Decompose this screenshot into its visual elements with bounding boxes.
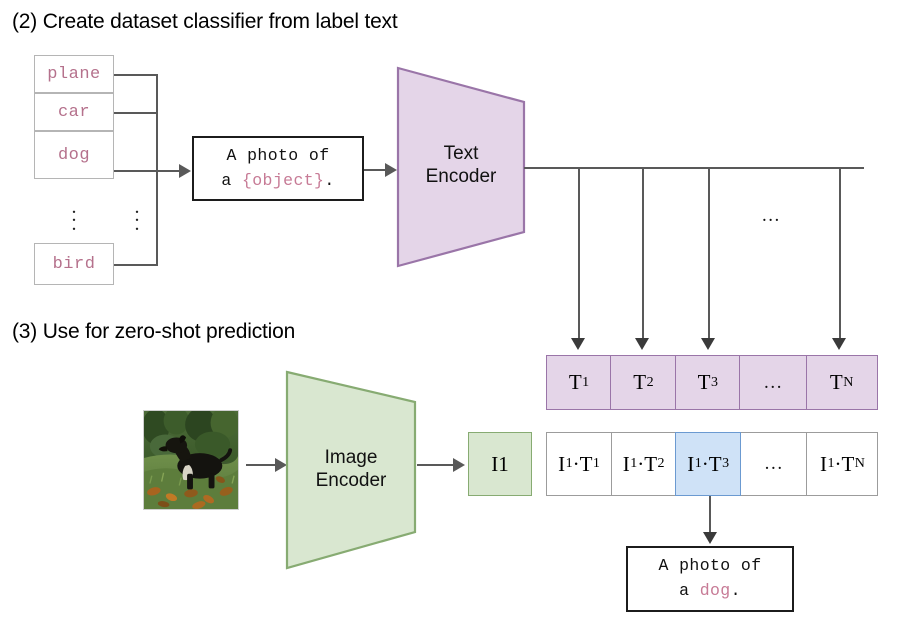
image-encoder-label: Image Encoder — [285, 446, 417, 492]
output-line-2: a dog. — [679, 579, 741, 604]
similarity-row: I1·T1 I1·T2 I1·T3 … I1·TN — [546, 432, 878, 496]
label-box-dog[interactable]: dog — [34, 131, 114, 179]
label-text-bird: bird — [53, 255, 96, 274]
text-embedding-cell[interactable]: T3 — [675, 355, 741, 410]
bus-drop-3 — [708, 167, 710, 343]
sim-i-sub: 1 — [695, 456, 702, 472]
sim-i-sub: 1 — [827, 456, 834, 472]
sim-t: T — [841, 452, 854, 477]
sim-dot: · — [834, 452, 841, 477]
arrow-down-icon — [703, 532, 717, 544]
output-line-1: A photo of — [658, 554, 761, 579]
cell-base: T — [569, 370, 582, 395]
sim-dot: · — [573, 452, 580, 477]
connector-car — [114, 112, 158, 114]
output-suffix: . — [731, 581, 741, 600]
prompt-object-token: {object} — [242, 171, 324, 190]
sim-t: T — [709, 452, 722, 477]
connector-ellipsis-icon: ... — [127, 203, 147, 228]
cell-base: T — [698, 370, 711, 395]
sim-ellipsis: … — [764, 453, 784, 475]
label-box-car[interactable]: car — [34, 93, 114, 131]
prompt-suffix: . — [324, 171, 334, 190]
prediction-output-box[interactable]: A photo of a dog. — [626, 546, 794, 612]
arrow-right-icon — [179, 164, 191, 178]
label-stack-ellipsis-icon: ... — [64, 203, 84, 228]
output-predicted-class: dog — [700, 581, 731, 600]
sim-dot: · — [637, 452, 644, 477]
sim-dot: · — [702, 452, 709, 477]
cell-base: T — [830, 370, 843, 395]
arrow-down-icon — [701, 338, 715, 350]
prompt-template-box[interactable]: A photo of a {object}. — [192, 136, 364, 201]
output-prefix: a — [679, 581, 700, 600]
image-embedding-base: I — [491, 452, 498, 477]
sim-t: T — [644, 452, 657, 477]
arrow-down-icon — [635, 338, 649, 350]
prompt-line-1: A photo of — [226, 144, 329, 169]
prompt-prefix: a — [221, 171, 242, 190]
similarity-cell-n[interactable]: I1·TN — [806, 432, 878, 496]
sim-i: I — [623, 452, 630, 477]
similarity-cell-3-selected[interactable]: I1·T3 — [675, 432, 741, 496]
connector-dog — [114, 170, 158, 172]
sim-i: I — [687, 452, 694, 477]
sim-t-sub: 3 — [722, 456, 729, 472]
similarity-cell-1[interactable]: I1·T1 — [546, 432, 612, 496]
text-embedding-cell-ellipsis: … — [739, 355, 807, 410]
bus-drop-1 — [578, 167, 580, 343]
sim-t-sub: 2 — [658, 456, 665, 472]
label-text-plane: plane — [47, 65, 101, 84]
label-box-bird[interactable]: bird — [34, 243, 114, 285]
sim-i: I — [820, 452, 827, 477]
image-encoder[interactable]: Image Encoder — [285, 370, 417, 570]
sim-t: T — [580, 452, 593, 477]
bus-drop-2 — [642, 167, 644, 343]
sim-t-sub: N — [855, 456, 865, 472]
sim-i: I — [558, 452, 565, 477]
connector-bird — [114, 264, 158, 266]
bus-drop-n — [839, 167, 841, 343]
similarity-cell-ellipsis: … — [740, 432, 808, 496]
label-box-plane[interactable]: plane — [34, 55, 114, 93]
dog-photo-illustration — [144, 411, 238, 509]
bus-overflow-dots: ... — [762, 205, 781, 227]
sim-i-sub: 1 — [630, 456, 637, 472]
text-embedding-cell[interactable]: T2 — [610, 355, 676, 410]
arrow-down-icon — [571, 338, 585, 350]
input-image-thumbnail[interactable] — [143, 410, 239, 510]
similarity-cell-2[interactable]: I1·T2 — [611, 432, 677, 496]
arrow-right-icon — [453, 458, 465, 472]
image-embedding-box[interactable]: I1 — [468, 432, 532, 496]
cell-sub: 3 — [711, 375, 718, 391]
text-embedding-bus — [524, 167, 864, 169]
cell-base: … — [763, 372, 783, 394]
cell-base: T — [633, 370, 646, 395]
text-embedding-cell[interactable]: T1 — [546, 355, 612, 410]
text-embedding-cell[interactable]: TN — [806, 355, 878, 410]
cell-sub: N — [843, 375, 853, 391]
sim-t-sub: 1 — [593, 456, 600, 472]
clip-zero-shot-figure: (2) Create dataset classifier from label… — [0, 0, 906, 624]
text-encoder[interactable]: Text Encoder — [396, 66, 526, 268]
label-text-dog: dog — [58, 146, 90, 165]
label-text-car: car — [58, 103, 90, 122]
text-embedding-row: T1 T2 T3 … TN — [546, 355, 878, 410]
cell-sub: 1 — [582, 375, 589, 391]
prompt-line-2: a {object}. — [221, 169, 334, 194]
connector-sim-to-output — [709, 496, 711, 536]
image-embedding-sub: 1 — [498, 452, 509, 477]
cell-sub: 2 — [647, 375, 654, 391]
heading-step-2: (2) Create dataset classifier from label… — [12, 10, 398, 34]
arrow-down-icon — [832, 338, 846, 350]
sim-i-sub: 1 — [566, 456, 573, 472]
connector-plane — [114, 74, 158, 76]
text-encoder-label: Text Encoder — [396, 142, 526, 188]
heading-step-3: (3) Use for zero-shot prediction — [12, 320, 295, 344]
